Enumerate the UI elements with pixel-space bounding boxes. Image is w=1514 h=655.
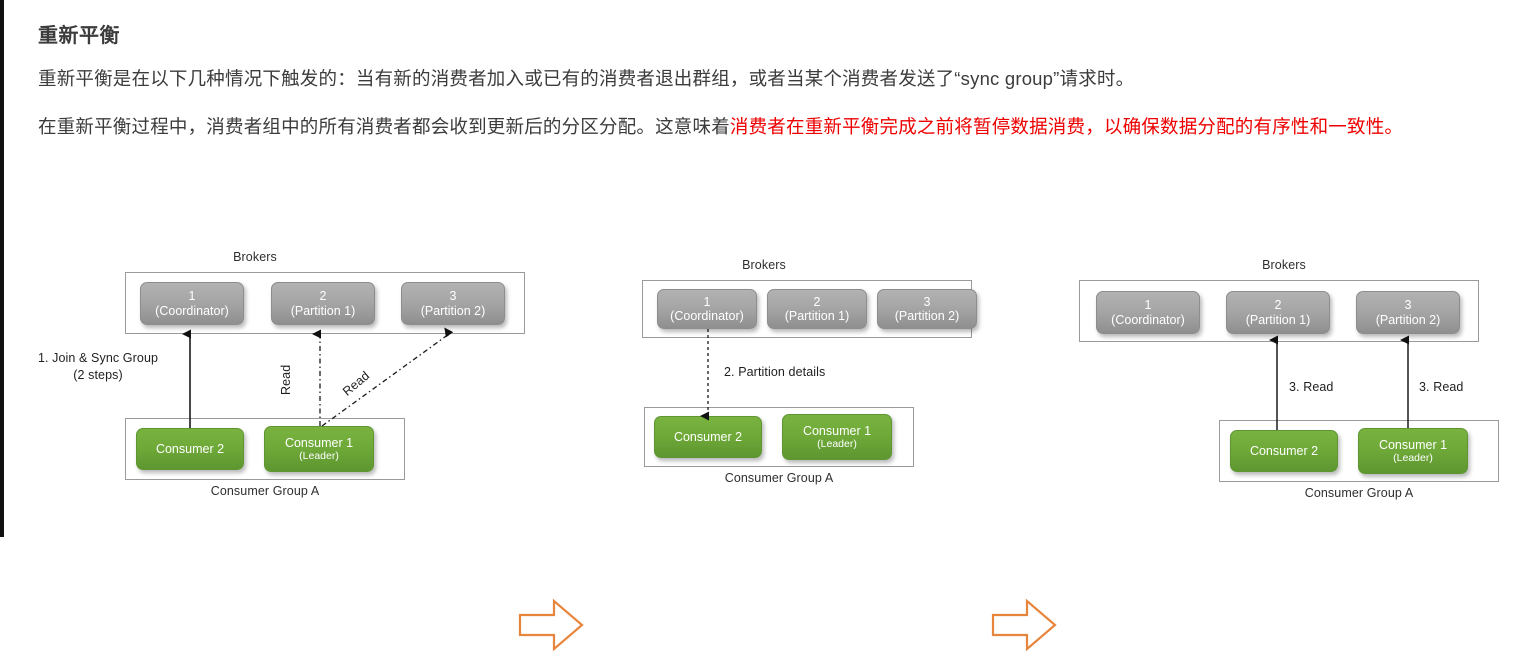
consumer-node-1-role: (Leader)	[1393, 452, 1433, 464]
broker-node-1: 1 (Coordinator)	[1096, 291, 1200, 334]
paragraph-2-highlighted-text: 消费者在重新平衡完成之前将暂停数据消费，以确保数据分配的有序性和一致性。	[730, 116, 1403, 137]
consumer-node-1: Consumer 1 (Leader)	[264, 426, 374, 472]
broker-node-3-id: 3	[924, 295, 931, 309]
paragraph-trigger-conditions: 重新平衡是在以下几种情况下触发的：当有新的消费者加入或已有的消费者退出群组，或者…	[38, 64, 1488, 94]
broker-node-2: 2 (Partition 1)	[271, 282, 375, 325]
diagram-panel-2: Brokers 1 (Coordinator) 2 (Partition 1) …	[564, 240, 994, 530]
broker-node-2: 2 (Partition 1)	[767, 289, 867, 329]
consumer-group-label: Consumer Group A	[1259, 486, 1459, 500]
page-title: 重新平衡	[38, 22, 1488, 50]
broker-node-2-id: 2	[1275, 298, 1282, 312]
broker-node-3-id: 3	[1405, 298, 1412, 312]
panel-1-step-label-line1: 1. Join & Sync Group	[38, 351, 158, 365]
consumer-node-1-name: Consumer 1	[803, 424, 871, 438]
broker-node-2: 2 (Partition 1)	[1226, 291, 1330, 334]
consumer-node-1: Consumer 1 (Leader)	[1358, 428, 1468, 474]
consumer-node-2: Consumer 2	[654, 416, 762, 458]
broker-node-1-role: (Coordinator)	[670, 309, 744, 323]
broker-node-3-role: (Partition 2)	[421, 304, 486, 318]
broker-node-1: 1 (Coordinator)	[657, 289, 757, 329]
panel-1-step-label: 1. Join & Sync Group (2 steps)	[18, 350, 178, 384]
consumer-group-label: Consumer Group A	[165, 484, 365, 498]
consumer-node-1-name: Consumer 1	[285, 436, 353, 450]
broker-node-2-role: (Partition 1)	[785, 309, 850, 323]
page-left-edge-strip	[0, 0, 4, 537]
consumer-node-1-name: Consumer 1	[1379, 438, 1447, 452]
brokers-label: Brokers	[704, 258, 824, 272]
panel-1-step-label-line2: (2 steps)	[73, 368, 123, 382]
consumer-node-2-name: Consumer 2	[1250, 444, 1318, 458]
panel-1-read-label-vertical: Read	[279, 365, 293, 395]
broker-node-3: 3 (Partition 2)	[877, 289, 977, 329]
broker-node-1-role: (Coordinator)	[1111, 313, 1185, 327]
separator-arrow-2-icon	[989, 595, 1059, 655]
paragraph-rebalance-behavior: 在重新平衡过程中，消费者组中的所有消费者都会收到更新后的分区分配。这意味着消费者…	[38, 112, 1488, 142]
broker-node-1: 1 (Coordinator)	[140, 282, 244, 325]
diagram-panel-3: Brokers 1 (Coordinator) 2 (Partition 1) …	[1034, 240, 1504, 530]
separator-arrow-1-icon	[516, 595, 586, 655]
broker-node-1-role: (Coordinator)	[155, 304, 229, 318]
brokers-label: Brokers	[1224, 258, 1344, 272]
kafka-rebalance-diagram: Brokers 1 (Coordinator) 2 (Partition 1) …	[4, 240, 1514, 530]
broker-node-2-id: 2	[320, 289, 327, 303]
panel-2-step-label: 2. Partition details	[724, 365, 825, 379]
broker-node-1-id: 1	[704, 295, 711, 309]
broker-node-2-role: (Partition 1)	[1246, 313, 1311, 327]
broker-node-2-role: (Partition 1)	[291, 304, 356, 318]
broker-node-3-role: (Partition 2)	[1376, 313, 1441, 327]
broker-node-3-role: (Partition 2)	[895, 309, 960, 323]
panel-3-read-label-right: 3. Read	[1419, 380, 1463, 394]
paragraph-2-plain-text: 在重新平衡过程中，消费者组中的所有消费者都会收到更新后的分区分配。这意味着	[38, 116, 730, 137]
brokers-label: Brokers	[195, 250, 315, 264]
consumer-group-label: Consumer Group A	[679, 471, 879, 485]
broker-node-3-id: 3	[450, 289, 457, 303]
broker-node-1-id: 1	[189, 289, 196, 303]
diagram-panel-1: Brokers 1 (Coordinator) 2 (Partition 1) …	[40, 240, 510, 530]
consumer-node-1-role: (Leader)	[817, 438, 857, 450]
consumer-node-2: Consumer 2	[136, 428, 244, 470]
consumer-node-2-name: Consumer 2	[674, 430, 742, 444]
consumer-node-2-name: Consumer 2	[156, 442, 224, 456]
consumer-node-2: Consumer 2	[1230, 430, 1338, 472]
consumer-node-1: Consumer 1 (Leader)	[782, 414, 892, 460]
broker-node-2-id: 2	[814, 295, 821, 309]
broker-node-3: 3 (Partition 2)	[1356, 291, 1460, 334]
consumer-node-1-role: (Leader)	[299, 450, 339, 462]
panel-3-read-label-left: 3. Read	[1289, 380, 1333, 394]
panel-1-read-label-diagonal: Read	[340, 369, 372, 399]
article-body: 重新平衡 重新平衡是在以下几种情况下触发的：当有新的消费者加入或已有的消费者退出…	[38, 22, 1488, 160]
broker-node-1-id: 1	[1145, 298, 1152, 312]
broker-node-3: 3 (Partition 2)	[401, 282, 505, 325]
paragraph-1-text: 重新平衡是在以下几种情况下触发的：当有新的消费者加入或已有的消费者退出群组，或者…	[38, 68, 1134, 89]
